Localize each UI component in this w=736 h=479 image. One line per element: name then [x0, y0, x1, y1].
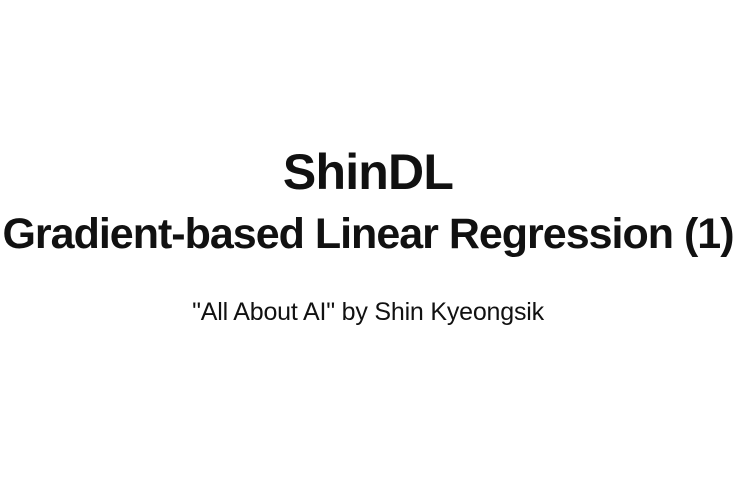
byline: "All About AI" by Shin Kyeongsik [0, 300, 736, 325]
title-slide: ShinDL Gradient-based Linear Regression … [0, 0, 736, 479]
subject-title: Gradient-based Linear Regression (1) [0, 213, 736, 256]
brand-title: ShinDL [0, 147, 736, 197]
